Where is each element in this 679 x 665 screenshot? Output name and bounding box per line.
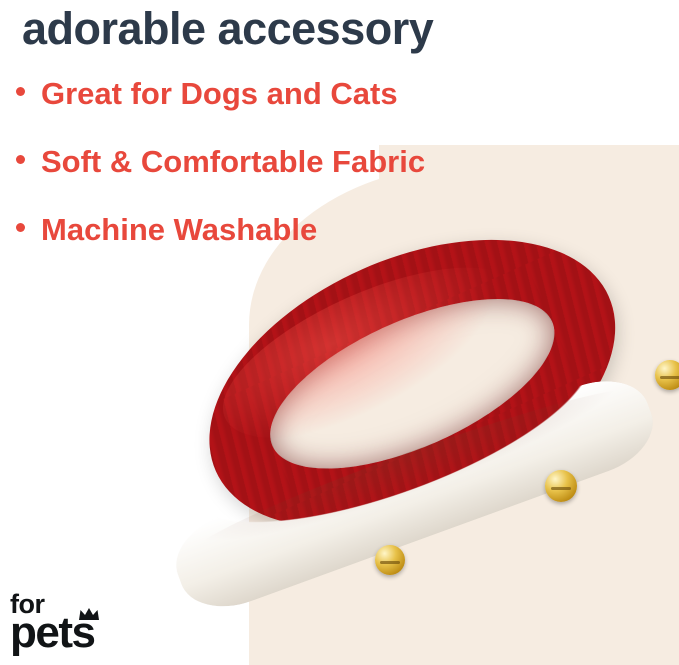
brand-logo: for pets	[10, 593, 94, 651]
jingle-bell-icon	[655, 360, 679, 390]
bullet-dot-icon	[16, 87, 25, 96]
crown-icon	[78, 607, 100, 621]
feature-label: Great for Dogs and Cats	[41, 78, 398, 109]
page-title: adorable accessory	[22, 4, 433, 54]
list-item: Machine Washable	[16, 214, 425, 245]
feature-label: Machine Washable	[41, 214, 317, 245]
jingle-bell-icon	[545, 470, 577, 502]
list-item: Soft & Comfortable Fabric	[16, 146, 425, 177]
list-item: Great for Dogs and Cats	[16, 78, 425, 109]
feature-label: Soft & Comfortable Fabric	[41, 146, 425, 177]
bullet-dot-icon	[16, 223, 25, 232]
feature-list: Great for Dogs and Cats Soft & Comfortab…	[16, 78, 425, 282]
product-infographic: adorable accessory Great for Dogs and Ca…	[0, 0, 679, 665]
jingle-bell-icon	[375, 545, 405, 575]
bullet-dot-icon	[16, 155, 25, 164]
